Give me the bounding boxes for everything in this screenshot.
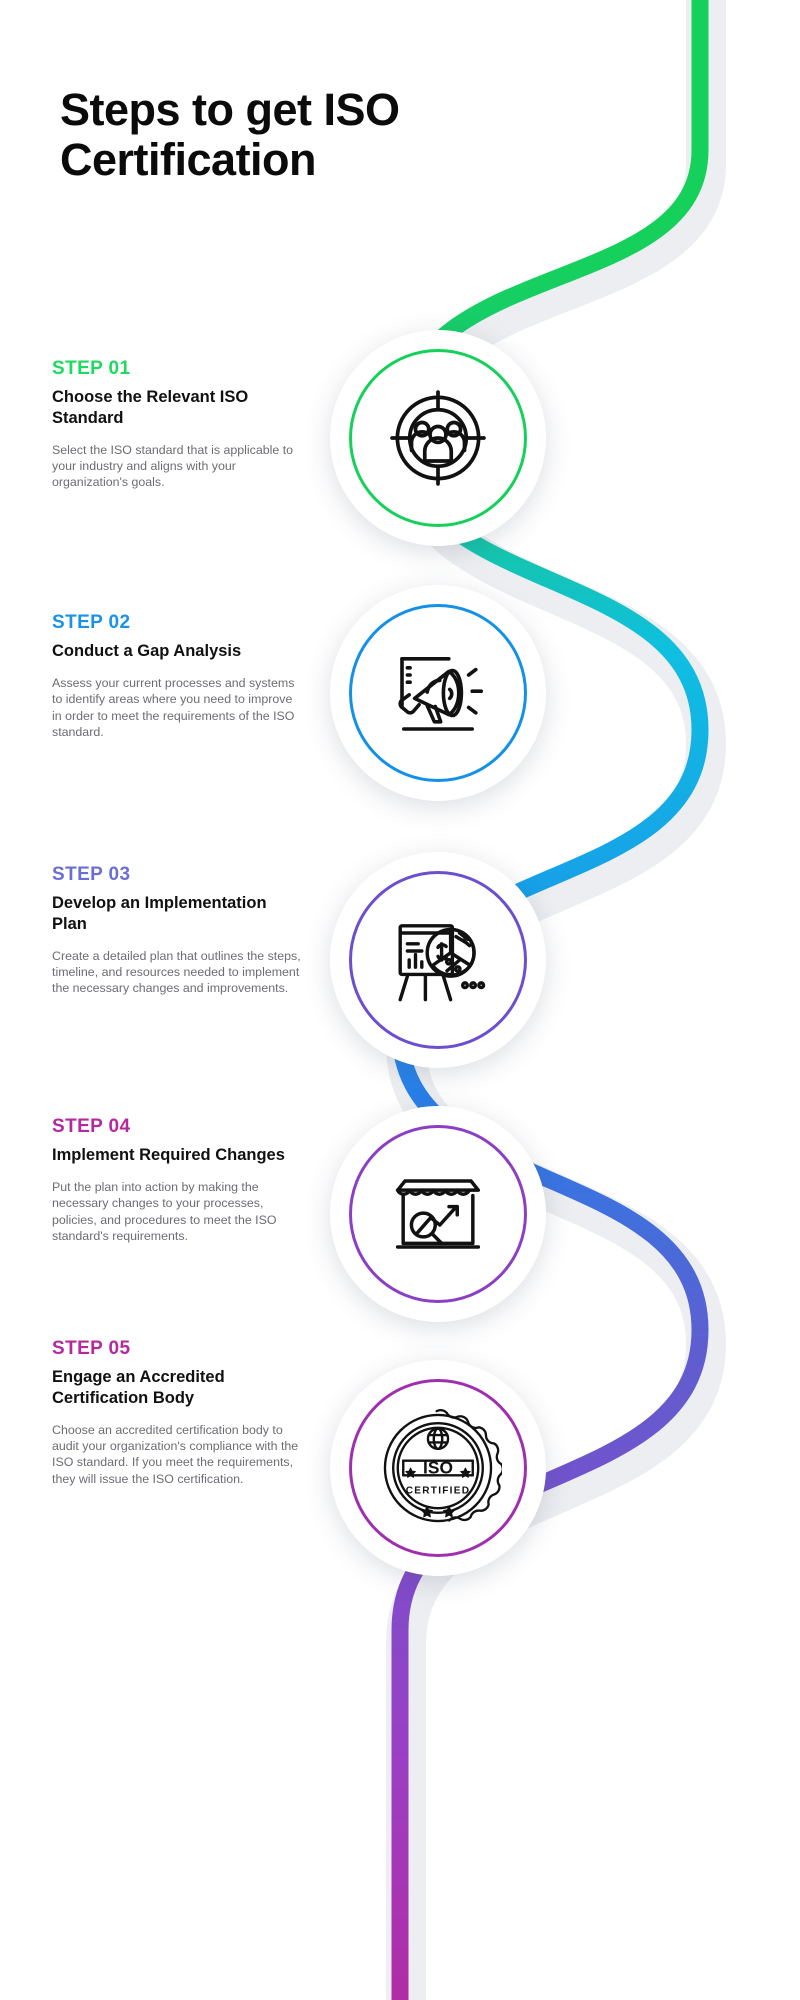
iso-badge-sublabel: CERTIFIED	[406, 1486, 471, 1497]
step-text-4: STEP 04 Implement Required Changes Put t…	[52, 1116, 304, 1244]
iso-badge-label: ISO	[423, 1457, 453, 1477]
step-circle-5[interactable]: ISO CERTIFIED	[330, 1360, 546, 1576]
step-text-5: STEP 05 Engage an Accredited Certificati…	[52, 1338, 304, 1487]
step-heading-4: Implement Required Changes	[52, 1145, 304, 1166]
title-block: Steps to get ISO Certification	[60, 85, 490, 186]
iso-certified-badge-icon: ISO CERTIFIED	[374, 1404, 502, 1532]
step-heading-5: Engage an Accredited Certification Body	[52, 1367, 304, 1409]
megaphone-announcement-icon	[384, 639, 492, 747]
step-body-3: Create a detailed plan that outlines the…	[52, 948, 304, 997]
step-ring-2	[349, 604, 527, 782]
step-heading-1: Choose the Relevant ISO Standard	[52, 387, 304, 429]
presentation-pie-chart-icon	[384, 906, 492, 1014]
step-body-2: Assess your current processes and system…	[52, 675, 304, 741]
step-circle-1[interactable]	[330, 330, 546, 546]
step-ring-5: ISO CERTIFIED	[349, 1379, 527, 1557]
step-circle-3[interactable]	[330, 852, 546, 1068]
target-audience-icon	[385, 385, 491, 491]
step-text-1: STEP 01 Choose the Relevant ISO Standard…	[52, 358, 304, 491]
step-circle-2[interactable]	[330, 585, 546, 801]
step-heading-2: Conduct a Gap Analysis	[52, 641, 304, 662]
step-ring-1	[349, 349, 527, 527]
page-title: Steps to get ISO Certification	[60, 85, 490, 186]
step-eyebrow-5: STEP 05	[52, 1338, 304, 1360]
step-eyebrow-4: STEP 04	[52, 1116, 304, 1138]
step-ring-3	[349, 871, 527, 1049]
step-eyebrow-1: STEP 01	[52, 358, 304, 380]
step-eyebrow-2: STEP 02	[52, 612, 304, 634]
step-body-4: Put the plan into action by making the n…	[52, 1179, 304, 1245]
step-text-2: STEP 02 Conduct a Gap Analysis Assess yo…	[52, 612, 304, 740]
step-heading-3: Develop an Implementation Plan	[52, 893, 304, 935]
step-eyebrow-3: STEP 03	[52, 864, 304, 886]
step-body-5: Choose an accredited certification body …	[52, 1422, 304, 1488]
step-body-1: Select the ISO standard that is applicab…	[52, 442, 304, 491]
storefront-analytics-icon	[383, 1159, 493, 1269]
step-ring-4	[349, 1125, 527, 1303]
infographic-page: Steps to get ISO Certification STEP 01 C…	[0, 0, 800, 2000]
step-circle-4[interactable]	[330, 1106, 546, 1322]
step-text-3: STEP 03 Develop an Implementation Plan C…	[52, 864, 304, 997]
